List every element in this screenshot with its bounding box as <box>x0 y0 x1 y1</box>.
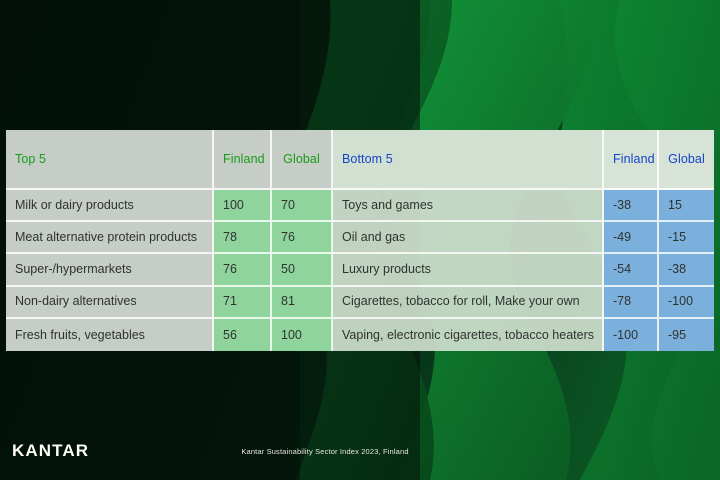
cell-bottom-global: 15 <box>659 190 714 222</box>
cell-top-label: Super-/hypermarkets <box>6 254 214 286</box>
cell-bottom-global: -95 <box>659 319 714 351</box>
header-top5-finland: Finland <box>214 130 272 190</box>
header-bottom5-global: Global <box>659 130 714 190</box>
cell-top-finland: 56 <box>214 319 272 351</box>
cell-top-label: Meat alternative protein products <box>6 222 214 254</box>
cell-bottom-label: Cigarettes, tobacco for roll, Make your … <box>333 287 604 319</box>
cell-top-global: 81 <box>272 287 333 319</box>
slide-canvas: Top 5 Finland Global Bottom 5 Finland Gl… <box>0 0 720 480</box>
cell-bottom-global: -100 <box>659 287 714 319</box>
cell-bottom-global: -38 <box>659 254 714 286</box>
cell-top-finland: 71 <box>214 287 272 319</box>
cell-bottom-finland: -78 <box>604 287 659 319</box>
cell-top-finland: 76 <box>214 254 272 286</box>
cell-bottom-label: Vaping, electronic cigarettes, tobacco h… <box>333 319 604 351</box>
cell-top-finland: 78 <box>214 222 272 254</box>
cell-top-global: 50 <box>272 254 333 286</box>
sector-index-table: Top 5 Finland Global Bottom 5 Finland Gl… <box>6 130 714 351</box>
table-row: Fresh fruits, vegetables 56 100 Vaping, … <box>6 319 714 351</box>
cell-top-label: Non-dairy alternatives <box>6 287 214 319</box>
table-body: Milk or dairy products 100 70 Toys and g… <box>6 190 714 351</box>
cell-top-finland: 100 <box>214 190 272 222</box>
cell-top-global: 100 <box>272 319 333 351</box>
cell-top-global: 70 <box>272 190 333 222</box>
index-table-container: Top 5 Finland Global Bottom 5 Finland Gl… <box>6 130 714 351</box>
table-row: Non-dairy alternatives 71 81 Cigarettes,… <box>6 287 714 319</box>
cell-top-global: 76 <box>272 222 333 254</box>
cell-bottom-global: -15 <box>659 222 714 254</box>
cell-top-label: Fresh fruits, vegetables <box>6 319 214 351</box>
cell-bottom-label: Toys and games <box>333 190 604 222</box>
table-header-row: Top 5 Finland Global Bottom 5 Finland Gl… <box>6 130 714 190</box>
cell-bottom-finland: -49 <box>604 222 659 254</box>
cell-bottom-finland: -38 <box>604 190 659 222</box>
cell-bottom-label: Oil and gas <box>333 222 604 254</box>
header-top5-global: Global <box>272 130 333 190</box>
cell-bottom-finland: -54 <box>604 254 659 286</box>
header-bottom5-finland: Finland <box>604 130 659 190</box>
cell-top-label: Milk or dairy products <box>6 190 214 222</box>
header-top5: Top 5 <box>6 130 214 190</box>
table-row: Super-/hypermarkets 76 50 Luxury product… <box>6 254 714 286</box>
cell-bottom-label: Luxury products <box>333 254 604 286</box>
table-row: Milk or dairy products 100 70 Toys and g… <box>6 190 714 222</box>
table-row: Meat alternative protein products 78 76 … <box>6 222 714 254</box>
header-bottom5: Bottom 5 <box>333 130 604 190</box>
source-note: Kantar Sustainability Sector Index 2023,… <box>0 447 685 456</box>
cell-bottom-finland: -100 <box>604 319 659 351</box>
